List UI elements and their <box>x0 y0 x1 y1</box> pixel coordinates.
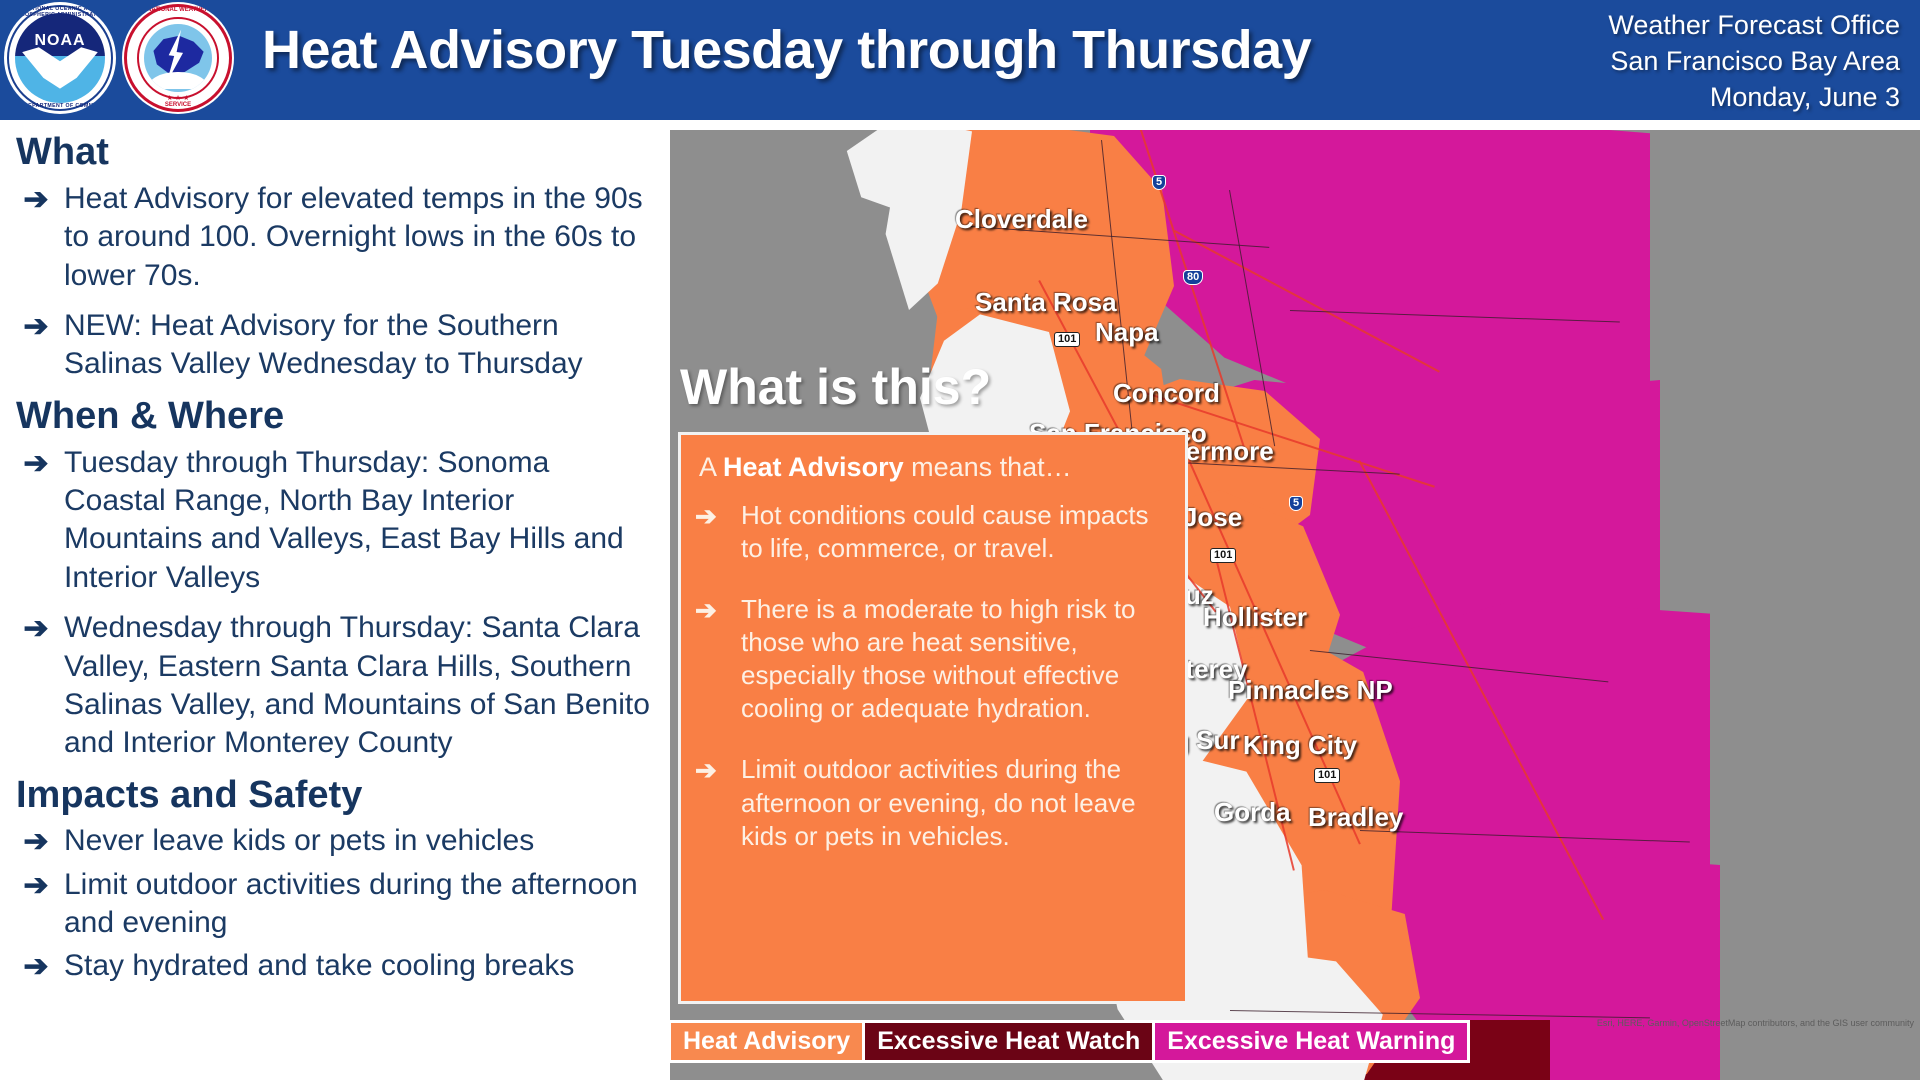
bullet-text: Limit outdoor activities during the afte… <box>64 866 668 943</box>
list-item: ➔ Never leave kids or pets in vehicles <box>8 822 668 861</box>
map-city-label: Concord <box>1113 378 1220 409</box>
bullet-text: NEW: Heat Advisory for the Southern Sali… <box>64 307 668 384</box>
noaa-arc-top-label: NATIONAL OCEANIC AND ATMOSPHERIC ADMINIS… <box>4 6 116 18</box>
noaa-logo-icon: NOAA NATIONAL OCEANIC AND ATMOSPHERIC AD… <box>4 2 116 114</box>
issue-date: Monday, June 3 <box>1608 80 1900 116</box>
callout-lead-line: A Heat Advisory means that… <box>699 451 1169 483</box>
nws-logo-icon: NATIONAL WEATHER SERVICE ★ ★ ★ <box>122 2 234 114</box>
route-shield-icon: 101 <box>1054 332 1080 347</box>
bullet-text: Never leave kids or pets in vehicles <box>64 822 546 860</box>
arrow-bullet-icon: ➔ <box>695 593 741 626</box>
bullet-text: Heat Advisory for elevated temps in the … <box>64 180 668 295</box>
callout-title: What is this? <box>680 358 991 416</box>
arrow-bullet-icon: ➔ <box>8 444 64 483</box>
map-city-label: Napa <box>1095 317 1159 348</box>
route-shield-icon: 5 <box>1289 496 1303 511</box>
header-banner: NOAA NATIONAL OCEANIC AND ATMOSPHERIC AD… <box>0 0 1920 120</box>
route-shield-icon: 5 <box>1152 175 1166 190</box>
left-info-panel: What ➔ Heat Advisory for elevated temps … <box>0 120 668 1080</box>
bullet-text: Tuesday through Thursday: Sonoma Coastal… <box>64 444 668 598</box>
bullet-text: There is a moderate to high risk to thos… <box>741 593 1169 725</box>
bullet-text: Limit outdoor activities during the afte… <box>741 753 1169 852</box>
bullet-text: Stay hydrated and take cooling breaks <box>64 947 586 985</box>
page-title: Heat Advisory Tuesday through Thursday <box>262 22 1311 79</box>
infographic-root: NOAA NATIONAL OCEANIC AND ATMOSPHERIC AD… <box>0 0 1920 1080</box>
heat-advisory-definition-box: A Heat Advisory means that… ➔ Hot condit… <box>678 432 1188 1004</box>
map-city-label: King City <box>1243 730 1357 761</box>
callout-lead-bold: Heat Advisory <box>723 452 904 482</box>
map-attribution: Esri, HERE, Garmin, OpenStreetMap contri… <box>1597 1018 1914 1028</box>
map-city-label: Pinnacles NP <box>1228 675 1393 706</box>
map-city-label: Gorda <box>1214 797 1291 828</box>
map-city-label: Bradley <box>1308 802 1403 833</box>
map-city-label: Cloverdale <box>955 204 1088 235</box>
arrow-bullet-icon: ➔ <box>695 753 741 786</box>
nws-arc-bottom-label: SERVICE <box>122 102 234 108</box>
section-heading-what: What <box>16 132 668 174</box>
list-item: ➔ Heat Advisory for elevated temps in th… <box>8 180 668 295</box>
arrow-bullet-icon: ➔ <box>8 307 64 346</box>
map-city-label: Hollister <box>1203 602 1307 633</box>
arrow-bullet-icon: ➔ <box>8 866 64 905</box>
arrow-bullet-icon: ➔ <box>695 499 741 532</box>
list-item: ➔ Limit outdoor activities during the af… <box>695 753 1169 852</box>
arrow-bullet-icon: ➔ <box>8 822 64 861</box>
route-shield-icon: 80 <box>1183 270 1203 285</box>
list-item: ➔ NEW: Heat Advisory for the Southern Sa… <box>8 307 668 384</box>
list-item: ➔ Tuesday through Thursday: Sonoma Coast… <box>8 444 668 598</box>
legend-item-excessive-heat-warning[interactable]: Excessive Heat Warning <box>1155 1023 1467 1060</box>
noaa-arc-bottom-label: U.S. DEPARTMENT OF COMMERCE <box>4 103 116 109</box>
arrow-bullet-icon: ➔ <box>8 609 64 648</box>
map-legend: Heat Advisory Excessive Heat Watch Exces… <box>668 1020 1470 1063</box>
nws-stars-icon: ★ ★ ★ <box>122 94 234 102</box>
office-info: Weather Forecast Office San Francisco Ba… <box>1608 8 1900 116</box>
list-item: ➔ Wednesday through Thursday: Santa Clar… <box>8 609 668 763</box>
callout-lead-prefix: A <box>699 452 723 482</box>
legend-item-excessive-heat-watch[interactable]: Excessive Heat Watch <box>865 1023 1155 1060</box>
office-region: San Francisco Bay Area <box>1608 44 1900 80</box>
legend-item-heat-advisory[interactable]: Heat Advisory <box>671 1023 865 1060</box>
section-heading-impacts-safety: Impacts and Safety <box>16 775 668 817</box>
map-city-label: Santa Rosa <box>975 287 1117 318</box>
list-item: ➔ Stay hydrated and take cooling breaks <box>8 947 668 986</box>
callout-lead-suffix: means that… <box>904 452 1072 482</box>
arrow-bullet-icon: ➔ <box>8 947 64 986</box>
noaa-logo-wordmark: NOAA <box>4 32 116 50</box>
list-item: ➔ Hot conditions could cause impacts to … <box>695 499 1169 565</box>
list-item: ➔ There is a moderate to high risk to th… <box>695 593 1169 725</box>
bullet-text: Hot conditions could cause impacts to li… <box>741 499 1169 565</box>
list-item: ➔ Limit outdoor activities during the af… <box>8 866 668 943</box>
section-heading-when-where: When & Where <box>16 396 668 438</box>
office-name: Weather Forecast Office <box>1608 8 1900 44</box>
route-shield-icon: 101 <box>1314 768 1340 783</box>
route-shield-icon: 101 <box>1210 548 1236 563</box>
nws-arc-top-label: NATIONAL WEATHER <box>122 7 234 13</box>
agency-logos: NOAA NATIONAL OCEANIC AND ATMOSPHERIC AD… <box>4 2 234 114</box>
arrow-bullet-icon: ➔ <box>8 180 64 219</box>
bullet-text: Wednesday through Thursday: Santa Clara … <box>64 609 668 763</box>
